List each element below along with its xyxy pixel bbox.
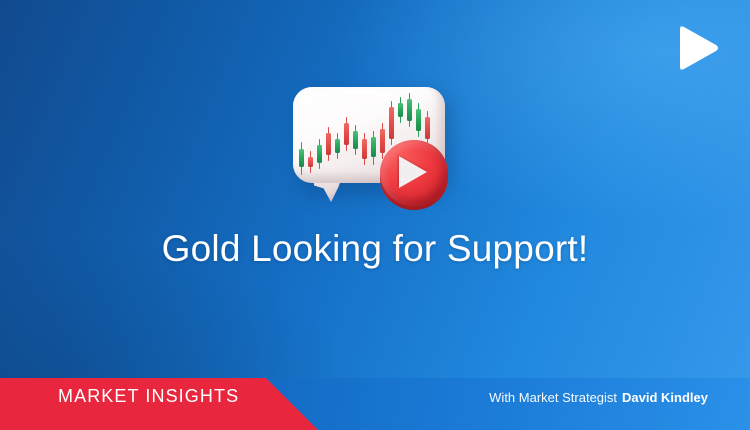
speech-bubble-illustration [285, 78, 465, 208]
candle-body [371, 137, 376, 157]
play-triangle-icon[interactable] [672, 23, 722, 73]
footer-series-label: MARKET INSIGHTS [58, 386, 239, 407]
page-title: Gold Looking for Support! [0, 228, 750, 270]
play-badge-button[interactable] [378, 138, 450, 210]
candle-body [353, 131, 358, 149]
candle-body [398, 103, 403, 117]
candle-body [308, 157, 313, 167]
credit-name: David Kindley [622, 390, 708, 405]
candle-body [317, 145, 322, 163]
candle-body [362, 139, 367, 159]
candle-body [425, 117, 430, 139]
candle-body [389, 107, 394, 139]
candle-body [416, 109, 421, 131]
background-glow [0, 0, 750, 430]
candle-body [407, 99, 412, 121]
candle-body [335, 139, 340, 153]
credit-prefix: With Market Strategist [489, 390, 617, 405]
candle-body [326, 133, 331, 155]
play-triangle-icon [399, 156, 427, 188]
candle-body [299, 149, 304, 167]
footer-credit: With Market StrategistDavid Kindley [489, 390, 708, 405]
video-thumbnail-card: Gold Looking for Support! MARKET INSIGHT… [0, 0, 750, 430]
candle-body [344, 123, 349, 145]
